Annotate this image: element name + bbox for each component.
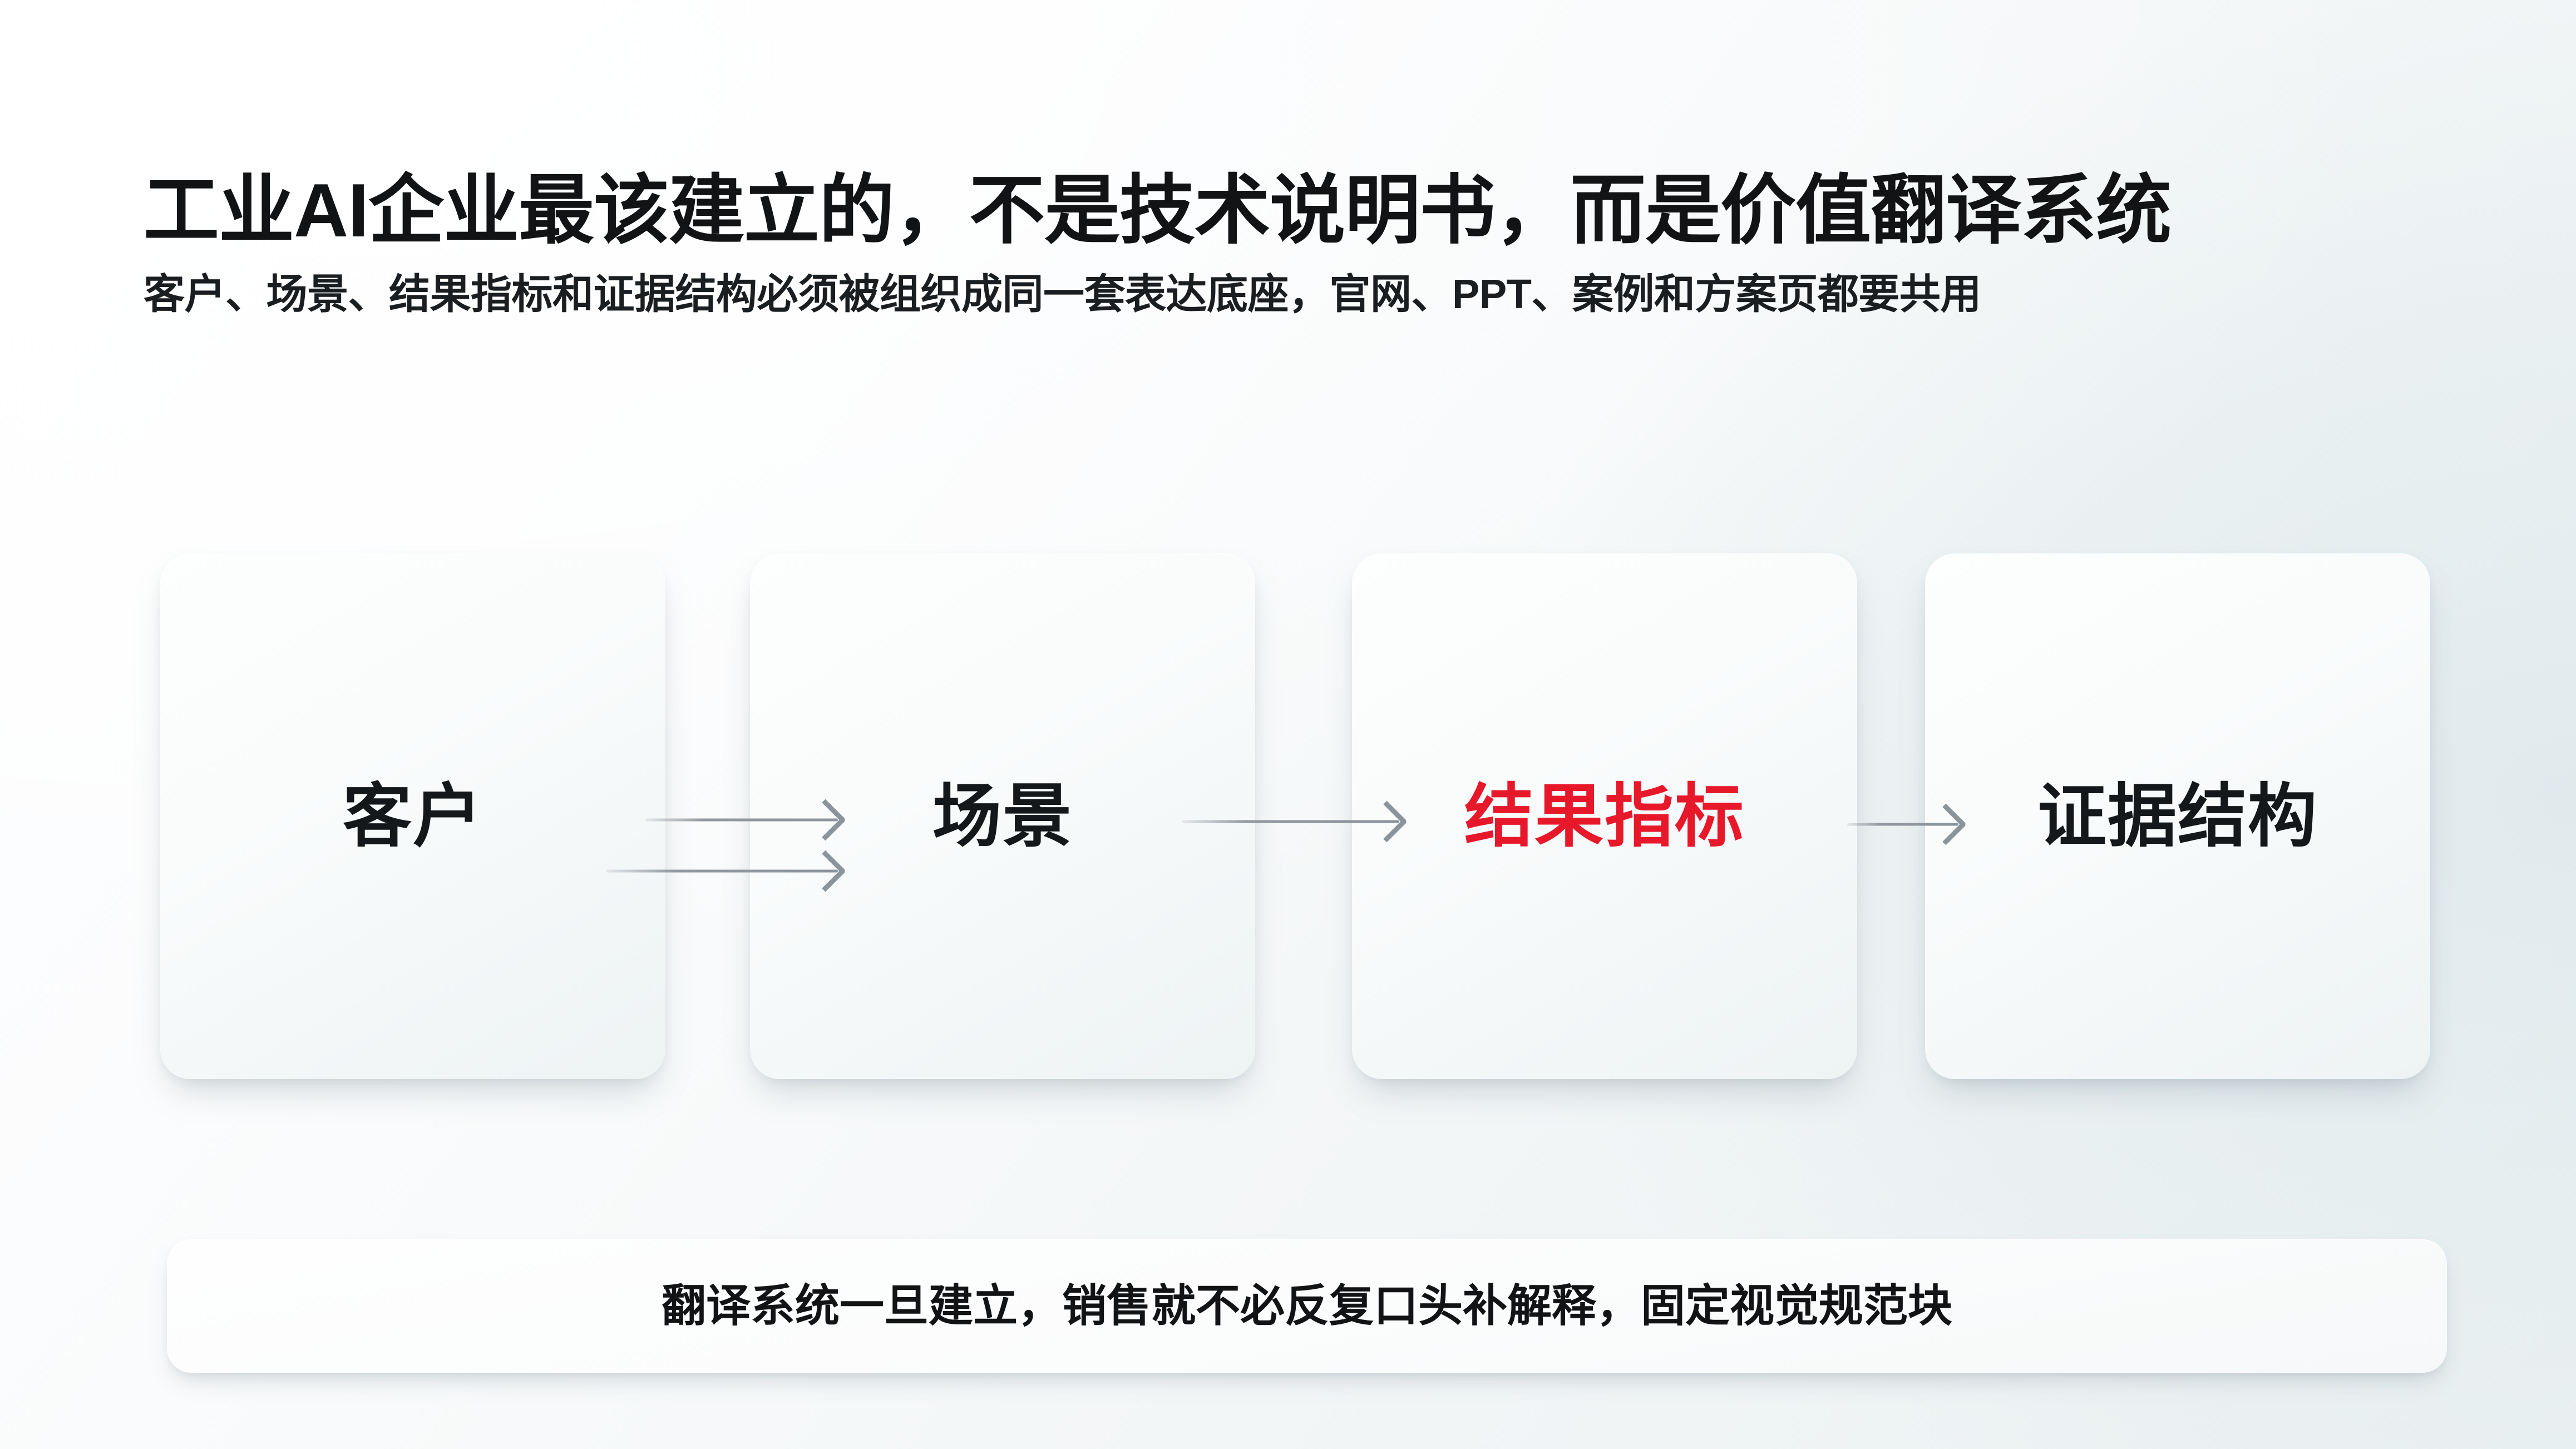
- page-subtitle: 客户、场景、结果指标和证据结构必须被组织成同一套表达底座，官网、PPT、案例和方…: [144, 269, 2469, 319]
- arrow-right-icon: [1847, 822, 1958, 827]
- arrow-right-icon: [645, 818, 838, 822]
- flow-step-label: 客户: [343, 782, 483, 851]
- footer-summary-banner: 翻译系统一旦建立，销售就不必反复口头补解释，固定视觉规范块: [167, 1239, 2447, 1373]
- slide-header: 工业AI企业最该建立的，不是技术说明书，而是价值翻译系统 客户、场景、结果指标和…: [144, 167, 2469, 319]
- arrow-shaft: [606, 870, 838, 873]
- flow-step-card-customer[interactable]: 客户: [160, 553, 665, 1079]
- arrow-right-icon: [606, 869, 838, 873]
- page-title: 工业AI企业最该建立的，不是技术说明书，而是价值翻译系统: [144, 167, 2469, 255]
- slide-root: 工业AI企业最该建立的，不是技术说明书，而是价值翻译系统 客户、场景、结果指标和…: [0, 0, 2576, 1449]
- footer-summary-text: 翻译系统一旦建立，销售就不必反复口头补解释，固定视觉规范块: [662, 1284, 1952, 1328]
- flow-step-label: 证据结构: [2037, 782, 2318, 851]
- flow-step-card-evidence-structure[interactable]: 证据结构: [1925, 553, 2430, 1079]
- flow-step-card-result-metric[interactable]: 结果指标: [1352, 553, 1857, 1079]
- flow-step-label: 场景: [932, 782, 1073, 851]
- flow-step-label-highlighted: 结果指标: [1464, 782, 1745, 851]
- arrow-right-icon: [1182, 819, 1399, 824]
